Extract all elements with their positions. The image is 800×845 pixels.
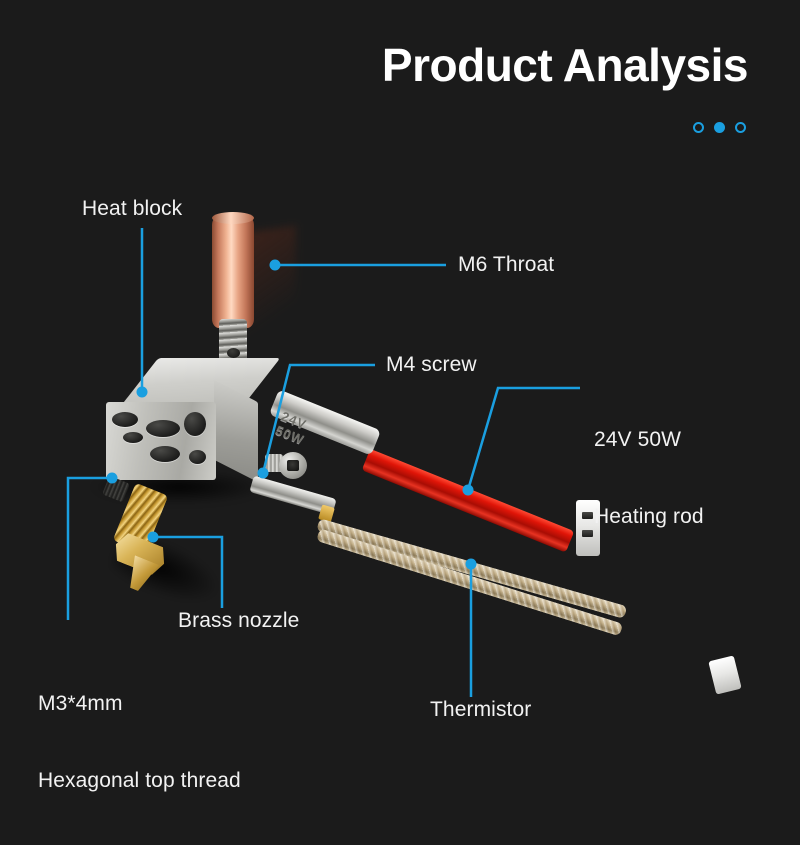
callout-label-heating-rod-line1: 24V 50W (594, 427, 704, 453)
callout-label-heat-block: Heat block (82, 196, 182, 222)
leader-dot-m4-screw (258, 468, 269, 479)
product-analysis-diagram: Product Analysis (0, 0, 800, 800)
callout-label-hex-thread: M3*4mm Hexagonal top thread (38, 640, 241, 845)
leader-dot-heating-rod (463, 485, 474, 496)
leader-dot-thermistor (466, 559, 477, 570)
callout-label-thermistor: Thermistor (430, 697, 531, 723)
leader-hex-thread (68, 478, 112, 620)
leader-dot-heat-block (137, 387, 148, 398)
callout-label-hex-thread-line1: M3*4mm (38, 691, 241, 717)
leader-m4-screw (263, 365, 375, 473)
leader-dot-hex-thread (107, 473, 118, 484)
callout-label-heating-rod-line2: Heating rod (594, 504, 704, 530)
leader-dot-brass-nozzle (148, 532, 159, 543)
callout-label-m6-throat: M6 Throat (458, 252, 554, 278)
leader-heating-rod (468, 388, 580, 490)
callout-label-m4-screw: M4 screw (386, 352, 477, 378)
leader-brass-nozzle (153, 537, 222, 608)
callout-label-heating-rod: 24V 50W Heating rod (594, 376, 704, 581)
callout-label-brass-nozzle: Brass nozzle (178, 608, 299, 634)
leader-dot-m6-throat (270, 260, 281, 271)
callout-label-hex-thread-line2: Hexagonal top thread (38, 768, 241, 794)
